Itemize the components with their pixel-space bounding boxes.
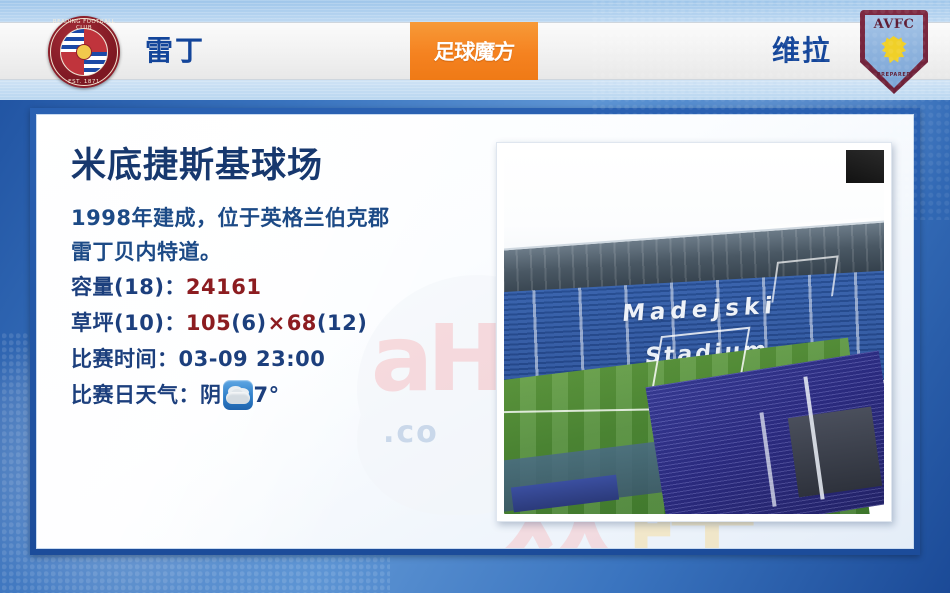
away-team-name: 维拉 bbox=[772, 28, 832, 74]
content-panel-inner: aHy .co 欢呼 米底捷斯基球场 1998年建成，位于英格兰伯克郡 雷丁贝内… bbox=[36, 114, 914, 549]
photo-dugout-structure bbox=[788, 407, 882, 498]
home-team-name: 雷丁 bbox=[145, 28, 205, 74]
brand-logo[interactable]: 足球魔方 bbox=[410, 22, 538, 80]
stadium-description-line-1: 1998年建成，位于英格兰伯克郡 bbox=[71, 201, 501, 235]
capacity-label: 容量(18)： bbox=[71, 275, 186, 299]
weather-condition: 阴 bbox=[200, 377, 222, 413]
cloud-front-body bbox=[226, 392, 250, 404]
capacity-row: 容量(18)：24161 bbox=[71, 269, 501, 305]
aston-villa-crest-icon: AVFC PREPARED bbox=[860, 10, 928, 94]
content-panel: aHy .co 欢呼 米底捷斯基球场 1998年建成，位于英格兰伯克郡 雷丁贝内… bbox=[30, 108, 920, 555]
watermark-dotcom: .co bbox=[383, 415, 439, 450]
match-time-label: 比赛时间： bbox=[71, 347, 179, 371]
photo-goal-far bbox=[771, 256, 838, 303]
reading-fc-crest-icon: READING FOOTBALL CLUB EST. 1871 bbox=[48, 16, 120, 88]
photo-roof-shadow-corner bbox=[846, 150, 884, 183]
pitch-length: 105 bbox=[186, 311, 231, 335]
stadium-photo-frame[interactable]: Madejski Stadium bbox=[496, 142, 892, 522]
pitch-width: 68 bbox=[287, 311, 317, 335]
cloudy-icon bbox=[223, 380, 253, 410]
weather-label: 比赛日天气： bbox=[71, 377, 200, 413]
pitch-length-rank: (6) bbox=[231, 311, 266, 335]
brand-logo-text: 足球魔方 bbox=[433, 36, 515, 66]
match-time-row: 比赛时间：03-09 23:00 bbox=[71, 341, 501, 377]
weather-temperature: 7° bbox=[254, 377, 280, 413]
app-root: READING FOOTBALL CLUB EST. 1871 雷丁 足球魔方 … bbox=[0, 0, 950, 593]
crest-inner-shield bbox=[60, 28, 108, 76]
crest-center-hub bbox=[76, 44, 92, 60]
stadium-info-block: 米底捷斯基球场 1998年建成，位于英格兰伯克郡 雷丁贝内特道。 容量(18)：… bbox=[71, 143, 501, 413]
crest-ring-bottom-text: EST. 1871 bbox=[48, 79, 120, 85]
pitch-width-rank: (12) bbox=[317, 311, 367, 335]
stadium-photo: Madejski Stadium bbox=[504, 150, 884, 514]
stadium-title: 米底捷斯基球场 bbox=[71, 143, 501, 189]
pitch-separator: × bbox=[267, 311, 287, 335]
match-time-value: 03-09 23:00 bbox=[179, 347, 326, 371]
pitch-size-row: 草坪(10)：105(6)×68(12) bbox=[71, 305, 501, 341]
villa-motto: PREPARED bbox=[860, 72, 928, 78]
weather-row: 比赛日天气：阴 7° bbox=[71, 377, 501, 413]
header-band: READING FOOTBALL CLUB EST. 1871 雷丁 足球魔方 … bbox=[0, 0, 950, 100]
capacity-value: 24161 bbox=[186, 275, 262, 299]
villa-initials: AVFC bbox=[860, 17, 928, 32]
pitch-label: 草坪(10)： bbox=[71, 311, 186, 335]
stadium-description-line-2: 雷丁贝内特道。 bbox=[71, 235, 501, 269]
